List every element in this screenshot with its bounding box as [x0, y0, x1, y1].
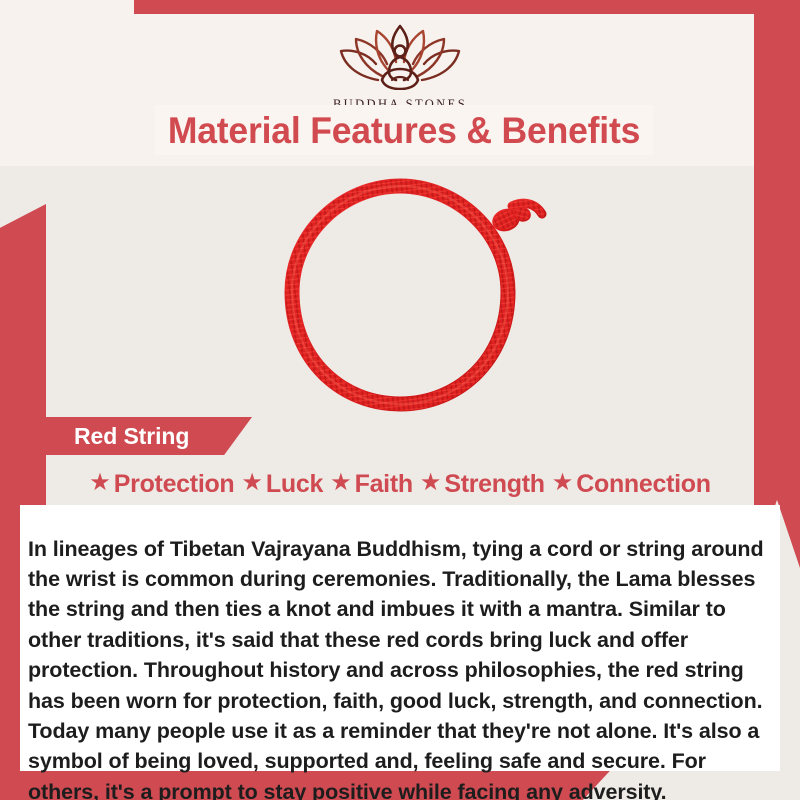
- red-string-bracelet-photo: [250, 170, 550, 418]
- benefit-item-protection: ★ Protection: [89, 472, 234, 497]
- product-name-label: Red String: [74, 423, 189, 450]
- star-icon: ★: [552, 471, 574, 495]
- description-panel: In lineages of Tibetan Vajrayana Buddhis…: [20, 505, 780, 771]
- brand-logo: BUDDHA STONES: [0, 14, 800, 112]
- benefit-item-strength: ★ Strength: [420, 472, 545, 497]
- benefits-row: ★ Protection ★ Luck ★ Faith ★ Strength ★…: [46, 466, 754, 502]
- benefit-label: Protection: [114, 472, 235, 497]
- benefit-label: Connection: [576, 472, 711, 497]
- top-red-band-decoration: [134, 0, 800, 14]
- star-icon: ★: [420, 471, 442, 495]
- benefit-item-connection: ★ Connection: [552, 472, 711, 497]
- product-name-ribbon: Red String: [20, 417, 252, 455]
- description-text: In lineages of Tibetan Vajrayana Buddhis…: [28, 534, 775, 800]
- benefit-label: Faith: [355, 472, 413, 497]
- lotus-meditation-icon: [0, 18, 800, 95]
- title-panel: Material Features & Benefits: [155, 105, 653, 155]
- page-title: Material Features & Benefits: [168, 112, 640, 149]
- infographic-card: BUDDHA STONES Material Features & Benefi…: [0, 0, 800, 800]
- benefit-label: Strength: [444, 472, 544, 497]
- benefit-item-luck: ★ Luck: [241, 472, 323, 497]
- star-icon: ★: [241, 471, 263, 495]
- star-icon: ★: [89, 471, 111, 495]
- product-photo: [46, 166, 754, 418]
- benefit-item-faith: ★ Faith: [330, 472, 413, 497]
- benefit-label: Luck: [266, 472, 323, 497]
- star-icon: ★: [330, 471, 352, 495]
